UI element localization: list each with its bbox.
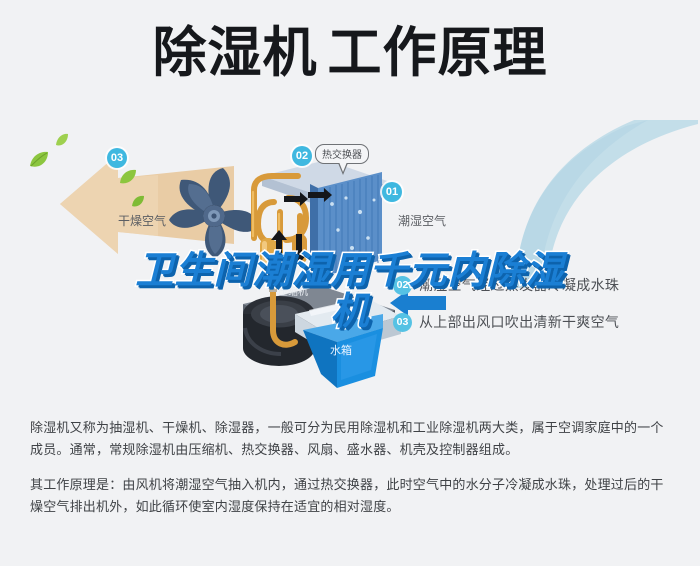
- page-title-part2: 工作原理: [328, 21, 548, 84]
- compressor-watertank-graphic: [225, 270, 415, 390]
- leaf-icon: [54, 132, 70, 148]
- diagram-badge-02: 02: [292, 146, 312, 166]
- legend-item-02: 02 潮湿空气经过蒸发器冷凝成水珠: [393, 275, 693, 295]
- heat-exchanger-tooltip-label: 热交换器: [322, 150, 362, 161]
- legend-text-02: 潮湿空气经过蒸发器冷凝成水珠: [419, 275, 619, 295]
- label-humid-air: 潮湿空气: [398, 212, 446, 229]
- diagram-badge-01: 01: [382, 182, 402, 202]
- legend-text-01: 风机将室内潮湿空气抽入机内: [419, 238, 605, 258]
- body-paragraph-2: 其工作原理是：由风机将潮湿空气抽入机内，通过热交换器，此时空气中的水分子冷凝成水…: [30, 475, 675, 519]
- label-dry-air: 干燥空气: [118, 212, 166, 229]
- body-copy: 除湿机又称为抽湿机、干燥机、除湿器，一般可分为民用除湿机和工业除湿机两大类，属于…: [30, 418, 675, 532]
- page-title: 除湿机工作原理: [0, 26, 700, 80]
- leaf-icon: [130, 194, 146, 209]
- page-title-part1: 除湿机: [153, 21, 318, 84]
- infographic-page: 除湿机工作原理: [0, 0, 700, 566]
- legend-item-03: 03 从上部出风口吹出清新干爽空气: [393, 312, 693, 332]
- legend-list: 01 风机将室内潮湿空气抽入机内 02 潮湿空气经过蒸发器冷凝成水珠 03 从上…: [393, 238, 693, 349]
- tooltip-tail-inner: [339, 162, 347, 172]
- heat-exchanger-tooltip: 热交换器: [315, 144, 369, 164]
- body-paragraph-1: 除湿机又称为抽湿机、干燥机、除湿器，一般可分为民用除湿机和工业除湿机两大类，属于…: [30, 418, 675, 462]
- leaf-icon: [118, 168, 138, 186]
- label-compressor: 压缩机: [278, 283, 308, 298]
- legend-text-03: 从上部出风口吹出清新干爽空气: [419, 312, 619, 332]
- legend-badge-03: 03: [393, 313, 412, 332]
- leaf-icon: [28, 150, 50, 170]
- legend-badge-02: 02: [393, 276, 412, 295]
- diagram-badge-03: 03: [107, 148, 127, 168]
- legend-badge-01: 01: [393, 239, 412, 258]
- label-water-tank: 水箱: [330, 342, 352, 358]
